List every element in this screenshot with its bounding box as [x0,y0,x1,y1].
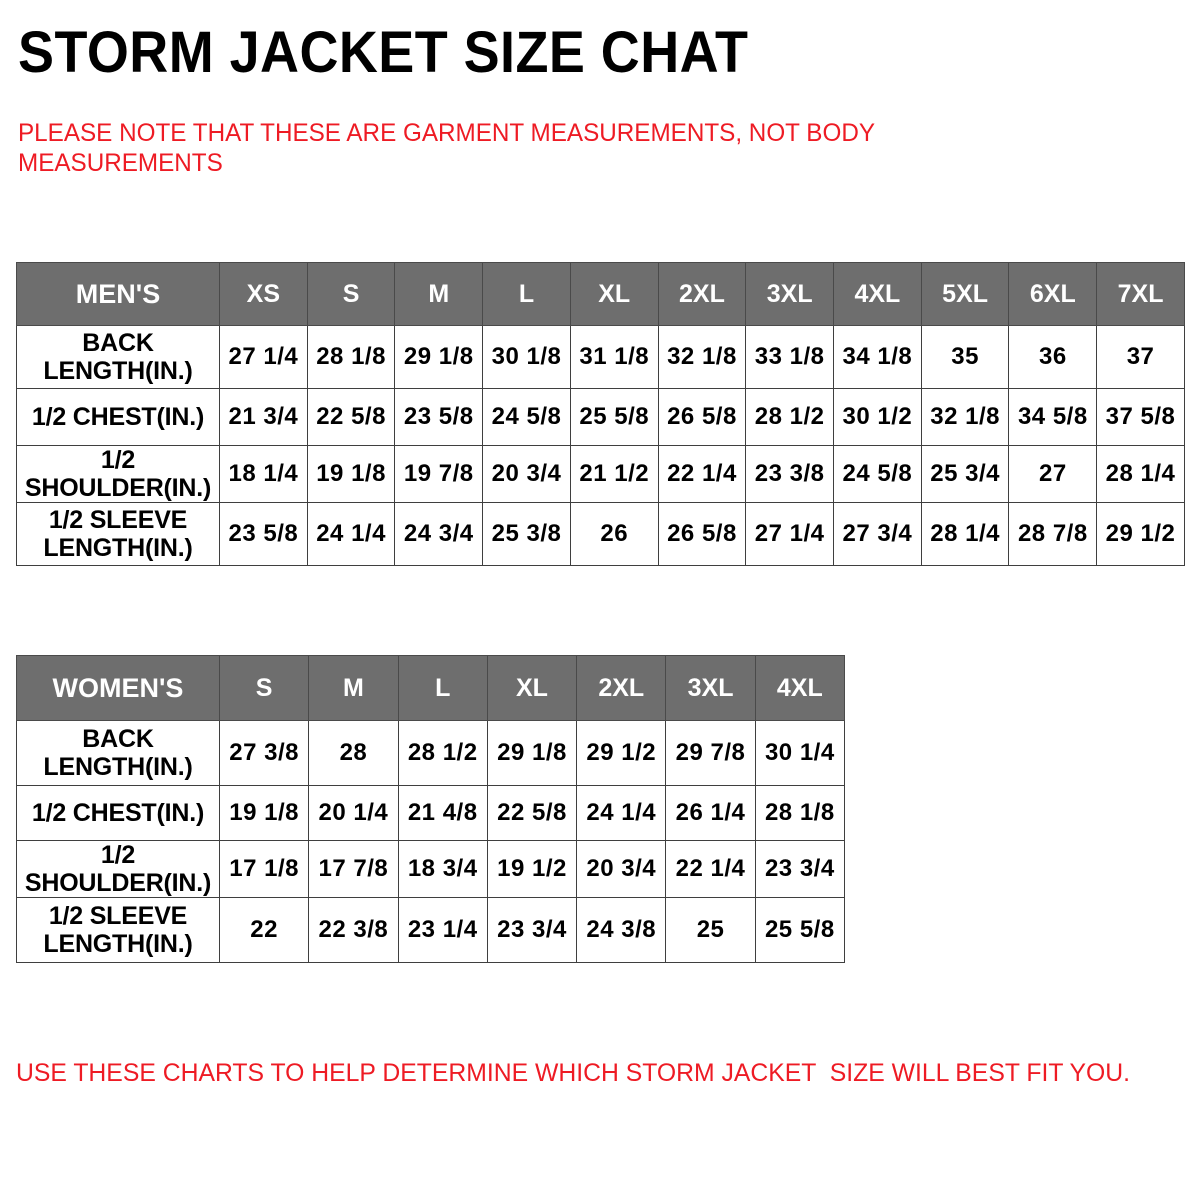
measurement-cell: 25 5/8 [570,389,658,446]
measurement-cell: 22 5/8 [307,389,395,446]
measurement-cell: 24 3/8 [577,898,666,963]
mens-row-label: 1/2 CHEST(IN.) [17,389,220,446]
measurement-cell: 20 3/4 [483,446,571,503]
measurement-cell: 30 1/8 [483,326,571,389]
mens-column-header-s: S [307,263,395,326]
mens-corner-label: MEN'S [17,263,220,326]
table-row: 1/2 CHEST(IN.)19 1/820 1/421 4/822 5/824… [17,786,845,841]
womens-column-header-m: M [309,656,398,721]
measurement-cell: 28 7/8 [1009,503,1097,566]
measurement-cell: 31 1/8 [570,326,658,389]
mens-column-header-xs: XS [220,263,308,326]
measurement-cell: 23 3/8 [746,446,834,503]
measurement-cell: 22 1/4 [666,841,755,898]
measurement-cell: 27 3/4 [834,503,922,566]
table-row: 1/2 SHOULDER(IN.)17 1/817 7/818 3/419 1/… [17,841,845,898]
measurement-cell: 23 5/8 [395,389,483,446]
mens-column-header-xl: XL [570,263,658,326]
measurement-cell: 18 1/4 [220,446,308,503]
womens-table-header: WOMEN'SSMLXL2XL3XL4XL [17,656,845,721]
mens-column-header-3xl: 3XL [746,263,834,326]
mens-column-header-7xl: 7XL [1097,263,1185,326]
womens-column-header-xl: XL [487,656,576,721]
measurement-cell: 34 1/8 [834,326,922,389]
measurement-cell: 26 [570,503,658,566]
measurement-cell: 26 5/8 [658,389,746,446]
mens-column-header-4xl: 4XL [834,263,922,326]
mens-table-header: MEN'SXSSMLXL2XL3XL4XL5XL6XL7XL [17,263,1185,326]
measurement-cell: 29 7/8 [666,721,755,786]
mens-column-header-m: M [395,263,483,326]
measurement-cell: 34 5/8 [1009,389,1097,446]
measurement-cell: 29 1/2 [1097,503,1185,566]
measurement-cell: 25 [666,898,755,963]
womens-table-body: BACK LENGTH(IN.)27 3/82828 1/229 1/829 1… [17,721,845,963]
size-chart-page: STORM JACKET SIZE CHAT PLEASE NOTE THAT … [0,0,1200,1200]
measurement-cell: 27 [1009,446,1097,503]
mens-size-table: MEN'SXSSMLXL2XL3XL4XL5XL6XL7XL BACK LENG… [16,262,1185,566]
use-charts-notice: USE THESE CHARTS TO HELP DETERMINE WHICH… [16,1058,1174,1088]
womens-corner-label: WOMEN'S [17,656,220,721]
measurement-cell: 27 3/8 [220,721,309,786]
table-row: 1/2 CHEST(IN.)21 3/422 5/823 5/824 5/825… [17,389,1185,446]
measurement-cell: 19 7/8 [395,446,483,503]
mens-table-body: BACK LENGTH(IN.)27 1/428 1/829 1/830 1/8… [17,326,1185,566]
table-row: 1/2 SLEEVE LENGTH(IN.)2222 3/823 1/423 3… [17,898,845,963]
measurement-cell: 22 1/4 [658,446,746,503]
measurement-cell: 33 1/8 [746,326,834,389]
measurement-cell: 23 3/4 [487,898,576,963]
mens-column-header-5xl: 5XL [921,263,1009,326]
measurement-cell: 28 1/8 [307,326,395,389]
measurement-cell: 19 1/8 [220,786,309,841]
measurement-cell: 37 5/8 [1097,389,1185,446]
mens-row-label: 1/2 SLEEVE LENGTH(IN.) [17,503,220,566]
measurement-cell: 23 1/4 [398,898,487,963]
measurement-cell: 27 1/4 [746,503,834,566]
measurement-cell: 24 5/8 [834,446,922,503]
table-row: 1/2 SLEEVE LENGTH(IN.)23 5/824 1/424 3/4… [17,503,1185,566]
measurement-cell: 32 1/8 [658,326,746,389]
table-row: BACK LENGTH(IN.)27 1/428 1/829 1/830 1/8… [17,326,1185,389]
measurement-cell: 22 5/8 [487,786,576,841]
measurement-cell: 30 1/2 [834,389,922,446]
womens-column-header-4xl: 4XL [755,656,844,721]
measurement-cell: 24 5/8 [483,389,571,446]
measurement-cell: 29 1/2 [577,721,666,786]
mens-column-header-l: L [483,263,571,326]
measurement-cell: 17 7/8 [309,841,398,898]
measurement-cell: 36 [1009,326,1097,389]
measurement-cell: 28 1/2 [746,389,834,446]
measurement-cell: 26 1/4 [666,786,755,841]
measurement-cell: 27 1/4 [220,326,308,389]
measurement-cell: 29 1/8 [487,721,576,786]
measurement-cell: 19 1/8 [307,446,395,503]
measurement-cell: 26 5/8 [658,503,746,566]
measurement-cell: 24 1/4 [577,786,666,841]
measurement-cell: 20 1/4 [309,786,398,841]
measurement-cell: 18 3/4 [398,841,487,898]
measurement-cell: 24 1/4 [307,503,395,566]
measurement-cell: 24 3/4 [395,503,483,566]
womens-size-table: WOMEN'SSMLXL2XL3XL4XL BACK LENGTH(IN.)27… [16,655,845,963]
measurement-cell: 21 4/8 [398,786,487,841]
table-row: 1/2 SHOULDER(IN.)18 1/419 1/819 7/820 3/… [17,446,1185,503]
womens-row-label: BACK LENGTH(IN.) [17,721,220,786]
measurement-cell: 28 [309,721,398,786]
measurement-cell: 30 1/4 [755,721,844,786]
womens-row-label: 1/2 CHEST(IN.) [17,786,220,841]
measurement-cell: 20 3/4 [577,841,666,898]
measurement-cell: 25 5/8 [755,898,844,963]
measurement-cell: 25 3/4 [921,446,1009,503]
mens-row-label: BACK LENGTH(IN.) [17,326,220,389]
measurement-cell: 28 1/2 [398,721,487,786]
womens-column-header-2xl: 2XL [577,656,666,721]
womens-column-header-l: L [398,656,487,721]
womens-column-header-3xl: 3XL [666,656,755,721]
mens-row-label: 1/2 SHOULDER(IN.) [17,446,220,503]
measurement-cell: 32 1/8 [921,389,1009,446]
measurement-cell: 35 [921,326,1009,389]
mens-column-header-6xl: 6XL [1009,263,1097,326]
measurement-cell: 21 1/2 [570,446,658,503]
measurement-cell: 29 1/8 [395,326,483,389]
mens-column-header-2xl: 2XL [658,263,746,326]
table-row: BACK LENGTH(IN.)27 3/82828 1/229 1/829 1… [17,721,845,786]
mens-header-row: MEN'SXSSMLXL2XL3XL4XL5XL6XL7XL [17,263,1185,326]
measurement-cell: 28 1/4 [1097,446,1185,503]
womens-row-label: 1/2 SHOULDER(IN.) [17,841,220,898]
measurement-cell: 17 1/8 [220,841,309,898]
measurement-cell: 28 1/4 [921,503,1009,566]
measurement-cell: 22 3/8 [309,898,398,963]
measurement-cell: 19 1/2 [487,841,576,898]
page-title: STORM JACKET SIZE CHAT [18,22,748,84]
garment-measurement-notice: PLEASE NOTE THAT THESE ARE GARMENT MEASU… [18,118,949,178]
measurement-cell: 21 3/4 [220,389,308,446]
measurement-cell: 28 1/8 [755,786,844,841]
measurement-cell: 22 [220,898,309,963]
measurement-cell: 23 3/4 [755,841,844,898]
measurement-cell: 23 5/8 [220,503,308,566]
womens-column-header-s: S [220,656,309,721]
womens-header-row: WOMEN'SSMLXL2XL3XL4XL [17,656,845,721]
measurement-cell: 37 [1097,326,1185,389]
womens-row-label: 1/2 SLEEVE LENGTH(IN.) [17,898,220,963]
measurement-cell: 25 3/8 [483,503,571,566]
